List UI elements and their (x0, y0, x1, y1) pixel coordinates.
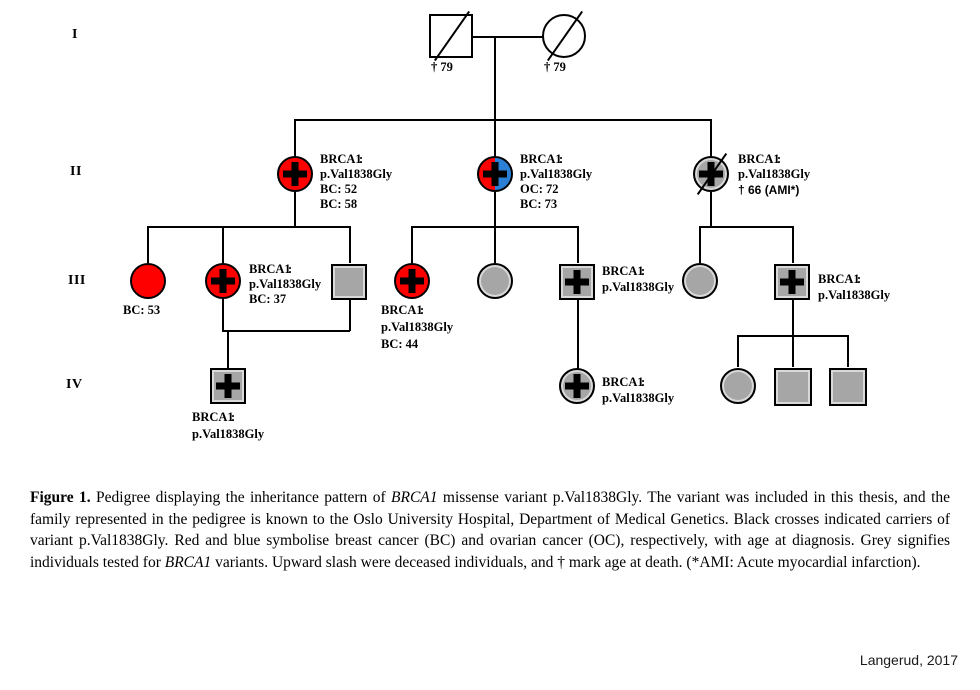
individual-ii-2[interactable] (477, 156, 513, 192)
label-ii-1-gene: BRCA1 (320, 152, 362, 167)
carrier-cross-icon (212, 370, 244, 402)
individual-iii-6[interactable] (559, 264, 595, 300)
label-iii-6-colon: : (641, 264, 645, 279)
label-iii-2-gene: BRCA1 (249, 262, 291, 277)
label-ii-2-gene: BRCA1 (520, 152, 562, 167)
sib-drop-iii-1 (147, 226, 149, 263)
carrier-cross-icon (561, 370, 593, 402)
label-ii-1-bc2: BC: 58 (320, 197, 357, 212)
sib-drop-ii-2 (494, 119, 496, 157)
label-iii-8-variant: p.Val1838Gly (818, 288, 890, 303)
individual-iii-5[interactable] (477, 263, 513, 299)
label-iii-1-bc: BC: 53 (123, 303, 160, 318)
descent-line-ii-2 (494, 192, 496, 227)
sib-drop-iii-7 (699, 226, 701, 263)
carrier-cross-icon (396, 265, 428, 297)
label-iii-4-colon: : (420, 303, 424, 318)
sib-drop-ii-1 (294, 119, 296, 157)
descent-line-ii-3 (710, 192, 712, 227)
label-iv-2-gene: BRCA1 (602, 375, 644, 390)
carrier-cross-icon (479, 158, 511, 190)
label-iv-2-colon: : (641, 375, 645, 390)
label-iii-2-variant: p.Val1838Gly (249, 277, 321, 292)
label-iii-8-gene: BRCA1 (818, 272, 860, 287)
descent-line-iv-1 (227, 330, 229, 368)
individual-iii-1[interactable] (130, 263, 166, 299)
label-ii-2-colon: : (559, 152, 563, 167)
carrier-cross-icon (561, 266, 593, 298)
label-ii-2-bc: BC: 73 (520, 197, 557, 212)
carrier-cross-icon (279, 158, 311, 190)
mating-line-iii-2-iii-3 (222, 330, 350, 332)
caption-figure-number: Figure 1. (30, 489, 91, 506)
label-ii-1-variant: p.Val1838Gly (320, 167, 392, 182)
label-iii-6-variant: p.Val1838Gly (602, 280, 674, 295)
pedigree-figure: I II III IV † 79 † 79 BRCA1 : p.Val1838G… (0, 0, 980, 690)
sib-drop-iii-3 (349, 226, 351, 263)
sib-drop-iv-5 (847, 335, 849, 367)
label-iii-6-gene: BRCA1 (602, 264, 644, 279)
individual-ii-1[interactable] (277, 156, 313, 192)
sibship-bar-gen2 (294, 119, 712, 121)
caption-gene-2: BRCA1 (165, 554, 212, 571)
label-iii-4-gene: BRCA1 (381, 303, 423, 318)
label-iii-4-variant: p.Val1838Gly (381, 320, 453, 335)
label-ii-3-colon: : (777, 152, 781, 167)
label-ii-2-variant: p.Val1838Gly (520, 167, 592, 182)
mating-stub-iii-2 (222, 299, 224, 331)
caption-part-3: variants. Upward slash were deceased ind… (211, 554, 920, 571)
sib-drop-iii-8 (792, 226, 794, 263)
label-ii-1-bc1: BC: 52 (320, 182, 357, 197)
mating-stub-iii-3 (349, 300, 351, 331)
carrier-cross-icon (776, 266, 808, 298)
age-label-i-2: † 79 (544, 60, 566, 75)
label-iv-1-colon: : (231, 410, 235, 425)
sib-drop-iv-4 (792, 335, 794, 367)
label-ii-3-death: † 66 (AMI*) (738, 183, 799, 198)
figure-caption: Figure 1. Pedigree displaying the inheri… (30, 487, 950, 573)
label-ii-3-variant: p.Val1838Gly (738, 167, 810, 182)
generation-label-iv: IV (66, 377, 83, 393)
individual-iii-8[interactable] (774, 264, 810, 300)
sib-drop-iii-2 (222, 226, 224, 263)
label-ii-2-oc: OC: 72 (520, 182, 559, 197)
descent-line-ii-1 (294, 192, 296, 227)
descent-line-gen1 (494, 36, 496, 120)
label-iv-2-variant: p.Val1838Gly (602, 391, 674, 406)
sib-drop-iv-3 (737, 335, 739, 367)
sib-drop-iii-5 (494, 226, 496, 263)
individual-iv-4[interactable] (774, 368, 812, 406)
individual-iv-5[interactable] (829, 368, 867, 406)
label-ii-1-colon: : (359, 152, 363, 167)
sib-drop-iii-4 (411, 226, 413, 263)
caption-gene-1: BRCA1 (391, 489, 438, 506)
descent-line-iii-8 (792, 300, 794, 336)
individual-iv-1[interactable] (210, 368, 246, 404)
label-ii-3-gene: BRCA1 (738, 152, 780, 167)
attribution-text: Langerud, 2017 (860, 652, 958, 668)
individual-iii-3[interactable] (331, 264, 367, 300)
individual-iii-4[interactable] (394, 263, 430, 299)
sibship-bar-family-a (147, 226, 351, 228)
individual-iv-2[interactable] (559, 368, 595, 404)
label-iii-4-bc: BC: 44 (381, 337, 418, 352)
age-label-i-1: † 79 (431, 60, 453, 75)
sib-drop-iii-6 (577, 226, 579, 263)
caption-part-1: Pedigree displaying the inheritance patt… (91, 489, 391, 506)
label-iv-1-gene: BRCA1 (192, 410, 234, 425)
label-iii-2-bc: BC: 37 (249, 292, 286, 307)
individual-iii-7[interactable] (682, 263, 718, 299)
sibship-bar-family-c (699, 226, 794, 228)
label-iv-1-variant: p.Val1838Gly (192, 427, 264, 442)
carrier-cross-icon (207, 265, 239, 297)
label-iii-2-colon: : (288, 262, 292, 277)
generation-label-ii: II (70, 164, 82, 180)
individual-iv-3[interactable] (720, 368, 756, 404)
generation-label-iii: III (68, 273, 86, 289)
label-iii-8-colon: : (857, 272, 861, 287)
individual-iii-2[interactable] (205, 263, 241, 299)
generation-label-i: I (72, 27, 78, 43)
descent-line-iv-2 (577, 300, 579, 376)
sib-drop-ii-3 (710, 119, 712, 157)
